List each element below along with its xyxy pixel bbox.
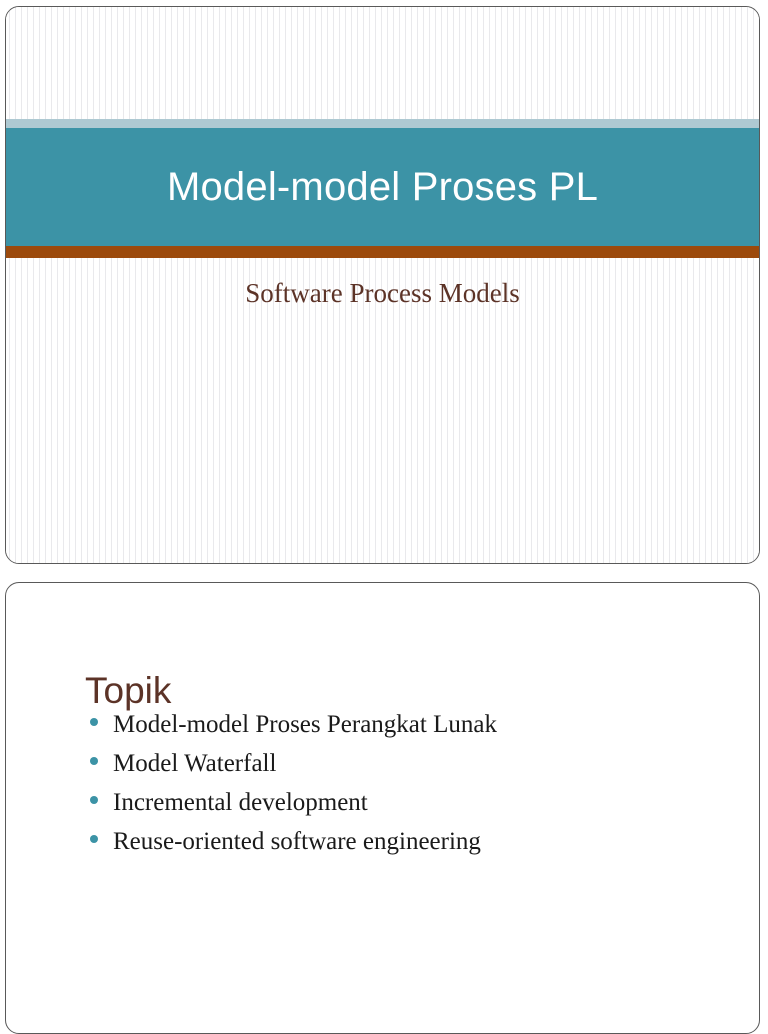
bullet-dot-icon: [90, 796, 98, 804]
list-item: Incremental development: [90, 783, 710, 822]
list-item-label: Model-model Proses Perangkat Lunak: [113, 705, 497, 744]
bullet-dot-icon: [90, 835, 98, 843]
list-item: Model Waterfall: [90, 744, 710, 783]
page-title: Topik: [85, 672, 171, 709]
bullet-dot-icon: [90, 757, 98, 765]
slide-subtitle-text: Software Process Models: [6, 279, 759, 309]
slides-page: Model-model Proses PL Software Process M…: [0, 0, 768, 1024]
slide-title[interactable]: Model-model Proses PL Software Process M…: [5, 6, 760, 564]
topic-bullet-list: Model-model Proses Perangkat Lunak Model…: [90, 705, 710, 861]
bullet-dot-icon: [90, 718, 98, 726]
banner-top-strip: [6, 119, 759, 128]
slide-title-text: Model-model Proses PL: [167, 167, 598, 207]
list-item-label: Model Waterfall: [113, 744, 276, 783]
banner-bottom-bar: [6, 246, 759, 258]
list-item-label: Reuse-oriented software engineering: [113, 822, 481, 861]
list-item: Model-model Proses Perangkat Lunak: [90, 705, 710, 744]
banner-body: Model-model Proses PL: [6, 128, 759, 246]
slide-topik[interactable]: Topik Model-model Proses Perangkat Lunak…: [5, 582, 760, 1034]
title-banner: Model-model Proses PL: [6, 119, 759, 258]
list-item-label: Incremental development: [113, 783, 368, 822]
list-item: Reuse-oriented software engineering: [90, 822, 710, 861]
